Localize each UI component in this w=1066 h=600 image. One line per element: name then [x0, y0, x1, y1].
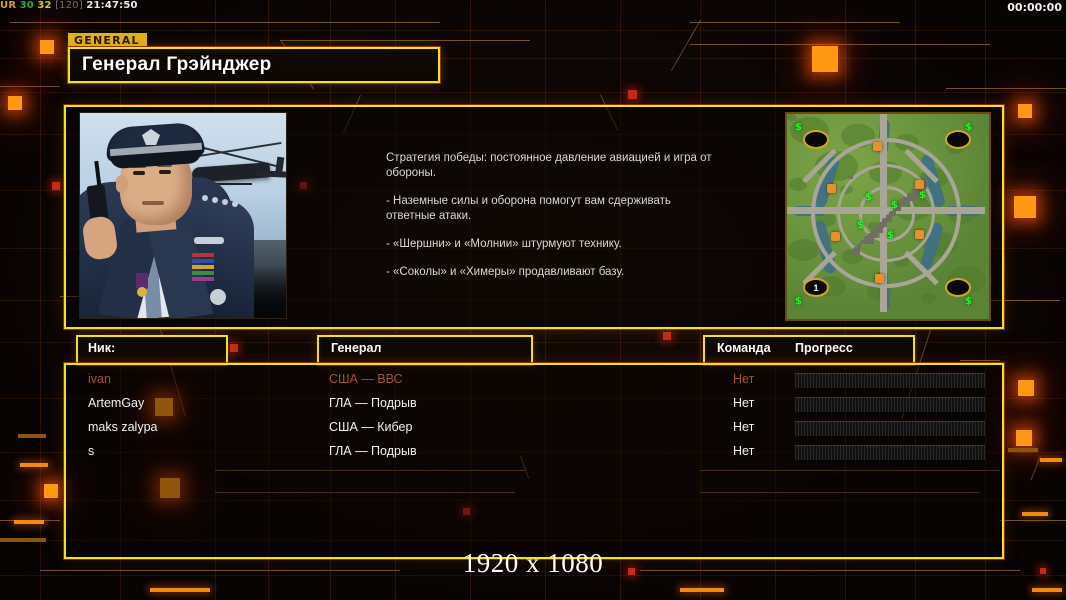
table-row[interactable]: ArtemGay ГЛА — Подрыв Нет [66, 393, 1002, 417]
player-list-panel: ivan США — ВВС Нет ArtemGay ГЛА — Подрыв… [64, 363, 1004, 559]
player-progress-bar [795, 373, 985, 389]
supply-marker-icon: $ [865, 192, 872, 203]
glow-square [44, 484, 58, 498]
city-building [890, 211, 896, 216]
city-building [865, 236, 869, 243]
player-progress-bar [795, 445, 985, 461]
description-line: - «Соколы» и «Химеры» продавливают базу. [386, 265, 716, 280]
header-team-progress: Команда Прогресс [703, 335, 915, 365]
accent-bar-dim [0, 538, 46, 542]
alert-dot [230, 344, 238, 352]
circuit-trace [946, 88, 1066, 89]
service-ribbon [192, 265, 214, 269]
city-building [868, 233, 878, 238]
supply-marker-icon: $ [891, 200, 898, 211]
ear [116, 175, 128, 193]
mouth [142, 201, 164, 205]
header-nick-label: Ник: [88, 341, 115, 355]
table-row[interactable]: s ГЛА — Подрыв Нет [66, 441, 1002, 465]
player-team[interactable]: Нет [733, 396, 754, 410]
status-value-a: 30 [20, 0, 34, 11]
player-team[interactable]: Нет [733, 444, 754, 458]
header-team-label: Команда [717, 341, 771, 355]
accent-bar [1040, 458, 1062, 462]
description-line: Стратегия победы: постоянное давление ав… [386, 151, 716, 181]
city-building [849, 176, 853, 179]
oil-derrick-icon [875, 274, 884, 283]
alert-dot [628, 90, 637, 99]
circuit-trace [690, 44, 990, 45]
circuit-trace [960, 360, 1000, 361]
general-tab-label[interactable]: GENERAL [68, 33, 147, 48]
accent-bar [680, 588, 724, 592]
rank-star-icon [212, 197, 218, 203]
alert-dot [52, 182, 60, 190]
start-position-4 [945, 278, 971, 297]
city-building [872, 229, 882, 232]
city-building [883, 218, 891, 221]
service-ribbon [192, 271, 214, 275]
player-general[interactable]: ГЛА — Подрыв [329, 396, 417, 410]
belt-buckle-icon [210, 289, 226, 305]
top-status-bar: UR 30 32 [120] 21:47:50 [0, 0, 1066, 14]
supply-marker-icon: $ [857, 220, 864, 231]
terrain-patch [788, 239, 819, 261]
city-building [908, 193, 918, 200]
accent-bar [14, 520, 44, 524]
glow-square [8, 96, 22, 110]
general-info-panel: Стратегия победы: постоянное давление ав… [64, 105, 1004, 329]
circuit-line [0, 30, 1066, 31]
pilot-wings-icon [194, 237, 224, 244]
accent-bar [1022, 512, 1048, 516]
circuit-trace [10, 22, 440, 23]
service-ribbon [192, 253, 214, 257]
status-value-c: [120] [55, 0, 83, 11]
general-title-box: Генерал Грэйнджер [68, 47, 440, 83]
supply-marker-icon: $ [919, 190, 926, 201]
supply-marker-icon: $ [795, 122, 802, 133]
alert-dot [663, 332, 671, 340]
glow-square [1018, 380, 1034, 396]
description-line: - «Шершни» и «Молнии» штурмуют технику. [386, 237, 716, 252]
status-clock: 21:47:50 [86, 0, 137, 11]
map-preview[interactable]: 1$$$$$$$$$ [785, 112, 991, 321]
circuit-line [0, 92, 1066, 93]
header-general-label: Генерал [331, 341, 381, 355]
glow-square [812, 46, 838, 72]
oil-derrick-icon [915, 180, 924, 189]
start-position-1 [803, 130, 829, 149]
supply-marker-icon: $ [965, 122, 972, 133]
player-team[interactable]: Нет [733, 420, 754, 434]
eye [133, 171, 145, 175]
table-row[interactable]: maks zalypa США — Кибер Нет [66, 417, 1002, 441]
player-progress-bar [795, 397, 985, 413]
table-row[interactable]: ivan США — ВВС Нет [66, 369, 1002, 393]
player-nick: maks zalypa [88, 420, 157, 434]
rank-star-icon [222, 199, 228, 205]
city-building [879, 222, 887, 227]
player-team[interactable]: Нет [733, 372, 754, 386]
circuit-trace [0, 86, 60, 87]
description-line: - Наземные силы и оборона помогут вам сд… [386, 194, 716, 224]
glow-square [1014, 196, 1036, 218]
accent-bar [20, 463, 48, 467]
supply-marker-icon: $ [887, 230, 894, 241]
accent-bar [1032, 588, 1062, 592]
city-building [901, 200, 905, 205]
header-progress-label: Прогресс [795, 341, 853, 355]
strategy-description: Стратегия победы: постоянное давление ав… [386, 151, 716, 293]
glow-square [1018, 104, 1032, 118]
player-progress-bar [795, 421, 985, 437]
circuit-trace [1000, 520, 1066, 521]
accent-bar-dim [1008, 448, 1038, 452]
circuit-trace [690, 22, 900, 23]
resolution-label: 1920 x 1080 [0, 548, 1066, 579]
oil-derrick-icon [873, 142, 882, 151]
terrain-patch [921, 293, 936, 304]
glow-square [1016, 430, 1032, 446]
header-nick: Ник: [76, 335, 228, 365]
glow-square [40, 40, 54, 54]
page-title: Генерал Грэйнджер [82, 54, 272, 76]
eye [159, 170, 171, 174]
player-general[interactable]: ГЛА — Подрыв [329, 444, 417, 458]
service-ribbon [192, 259, 214, 263]
accent-bar [150, 588, 210, 592]
oil-derrick-icon [831, 232, 840, 241]
header-general: Генерал [317, 335, 533, 365]
service-ribbon [192, 277, 214, 281]
supply-marker-icon: $ [795, 296, 802, 307]
match-timer: 00:00:00 [1007, 1, 1062, 14]
circuit-trace [280, 40, 530, 41]
player-general[interactable]: США — ВВС [329, 372, 403, 386]
oil-derrick-icon [915, 230, 924, 239]
start-position-3: 1 [803, 278, 829, 297]
player-nick: ivan [88, 372, 111, 386]
player-nick: s [88, 444, 94, 458]
supply-marker-icon: $ [965, 296, 972, 307]
status-value-b: 32 [37, 0, 51, 11]
general-granger-portrait [79, 112, 287, 319]
player-nick: ArtemGay [88, 396, 144, 410]
accent-bar-dim [18, 434, 46, 438]
rank-star-icon [232, 201, 238, 207]
medal-icon [136, 273, 148, 289]
rank-star-icon [202, 195, 208, 201]
circuit-diagonal [671, 20, 701, 71]
city-building [854, 247, 860, 254]
oil-derrick-icon [827, 184, 836, 193]
status-ur-label: UR [0, 0, 16, 11]
player-general[interactable]: США — Кибер [329, 420, 412, 434]
